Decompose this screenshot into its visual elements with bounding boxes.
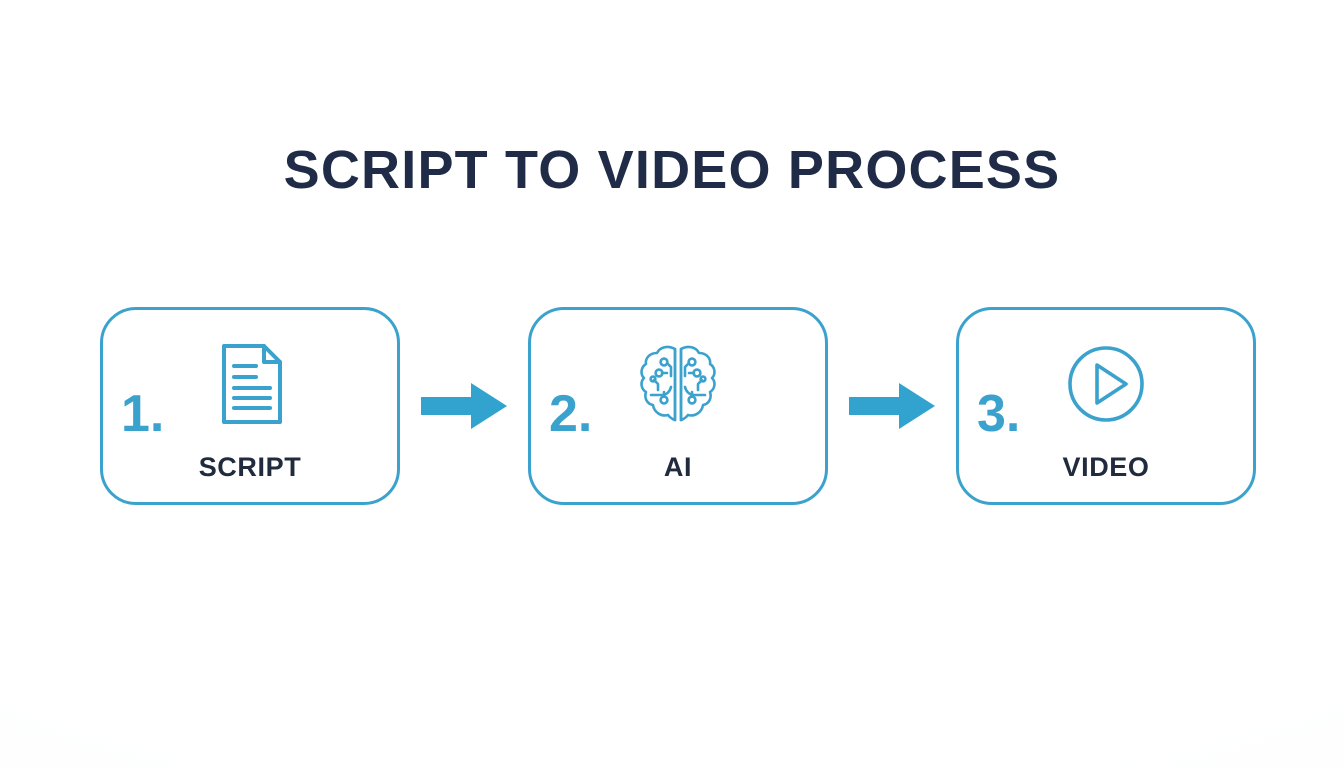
- document-icon: [206, 340, 294, 428]
- step-number-3: 3.: [977, 388, 1020, 440]
- page-title: SCRIPT TO VIDEO PROCESS: [0, 143, 1344, 197]
- step-card-ai[interactable]: 2.: [528, 307, 828, 505]
- step-number-2: 2.: [549, 388, 592, 440]
- step-label-ai: AI: [531, 454, 825, 481]
- step-label-video: VIDEO: [959, 454, 1253, 481]
- step-card-ai-body: 2.: [531, 332, 825, 436]
- play-circle-icon: [1062, 340, 1150, 428]
- brain-circuit-icon: [634, 340, 722, 428]
- step-card-script[interactable]: 1. SCRIPT: [100, 307, 400, 505]
- step-card-video[interactable]: 3. VIDEO: [956, 307, 1256, 505]
- step-card-script-body: 1.: [103, 332, 397, 436]
- arrow-right-icon: [421, 380, 507, 432]
- step-card-video-body: 3.: [959, 332, 1253, 436]
- process-flow: 1. SCRIPT 2.: [100, 307, 1256, 505]
- arrow-right-icon: [849, 380, 935, 432]
- step-label-script: SCRIPT: [103, 454, 397, 481]
- step-number-1: 1.: [121, 388, 164, 440]
